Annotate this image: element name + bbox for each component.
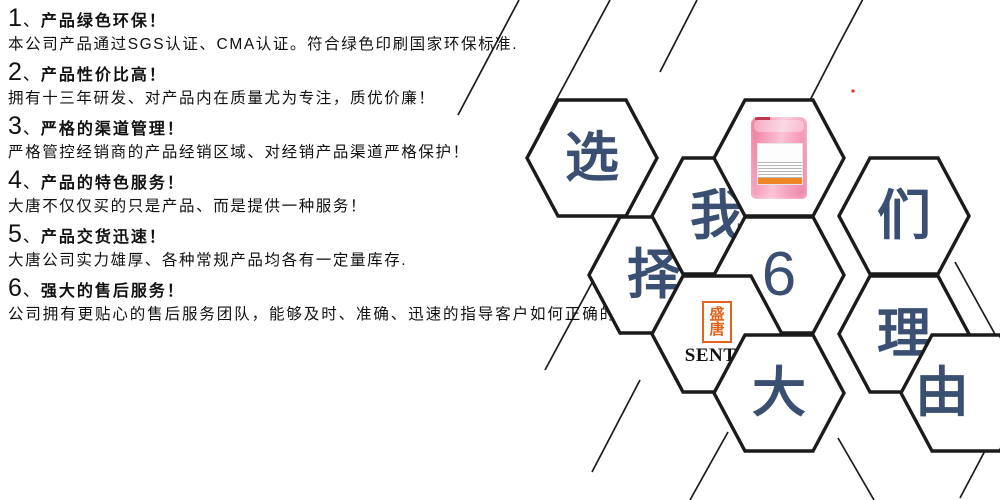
feature-title: 产品的特色服务！ <box>41 176 185 192</box>
deco-line-4 <box>838 0 872 46</box>
hex-cell-men[interactable]: 们 <box>837 156 971 276</box>
jug-label-text-lines <box>758 142 802 199</box>
feature-separator: 、 <box>23 66 40 83</box>
feature-title: 产品交货迅速！ <box>41 230 167 246</box>
feature-number: 6 <box>8 276 22 301</box>
hex-cell-da[interactable]: 大 <box>712 333 846 453</box>
feature-number: 3 <box>8 114 22 139</box>
promo-page: 1 、 产品绿色环保！ 本公司产品通过SGS认证、CMA认证。符合绿色印刷国家环… <box>0 0 1000 500</box>
feature-separator: 、 <box>23 120 40 137</box>
hex-cell-xuan[interactable]: 选 <box>525 98 659 218</box>
feature-body: 本公司产品通过SGS认证、CMA认证。符合绿色印刷国家环保标准. <box>8 36 708 53</box>
jug-handle <box>754 120 804 132</box>
red-dot-artifact <box>851 89 854 92</box>
jug-label <box>757 143 803 185</box>
feature-title: 产品绿色环保！ <box>41 14 167 30</box>
product-image <box>712 98 846 218</box>
feature-title: 严格的渠道管理！ <box>41 122 185 138</box>
feature-separator: 、 <box>23 282 40 299</box>
feature-separator: 、 <box>23 12 40 29</box>
feature-heading: 1 、 产品绿色环保！ <box>8 6 708 31</box>
hex-label: 选 <box>525 98 659 218</box>
feature-item-1: 1 、 产品绿色环保！ 本公司产品通过SGS认证、CMA认证。符合绿色印刷国家环… <box>8 6 708 53</box>
hex-label: 们 <box>837 156 971 276</box>
hex-cell-you[interactable]: 由 <box>899 333 1000 453</box>
hex-label: 由 <box>875 333 1000 453</box>
deco-line-7 <box>592 380 640 472</box>
feature-title: 产品性价比高！ <box>41 68 167 84</box>
feature-heading: 2 、 产品性价比高！ <box>8 60 708 85</box>
hex-label: 大 <box>712 333 846 453</box>
feature-number: 2 <box>8 60 22 85</box>
feature-separator: 、 <box>23 174 40 191</box>
feature-number: 5 <box>8 222 22 247</box>
hex-cell-product[interactable] <box>712 98 846 218</box>
feature-title: 强大的售后服务！ <box>41 284 185 300</box>
jug-label-bar-bottom <box>758 178 802 184</box>
feature-separator: 、 <box>23 228 40 245</box>
feature-number: 1 <box>8 6 22 31</box>
jerry-can-icon <box>751 117 807 199</box>
feature-number: 4 <box>8 168 22 193</box>
